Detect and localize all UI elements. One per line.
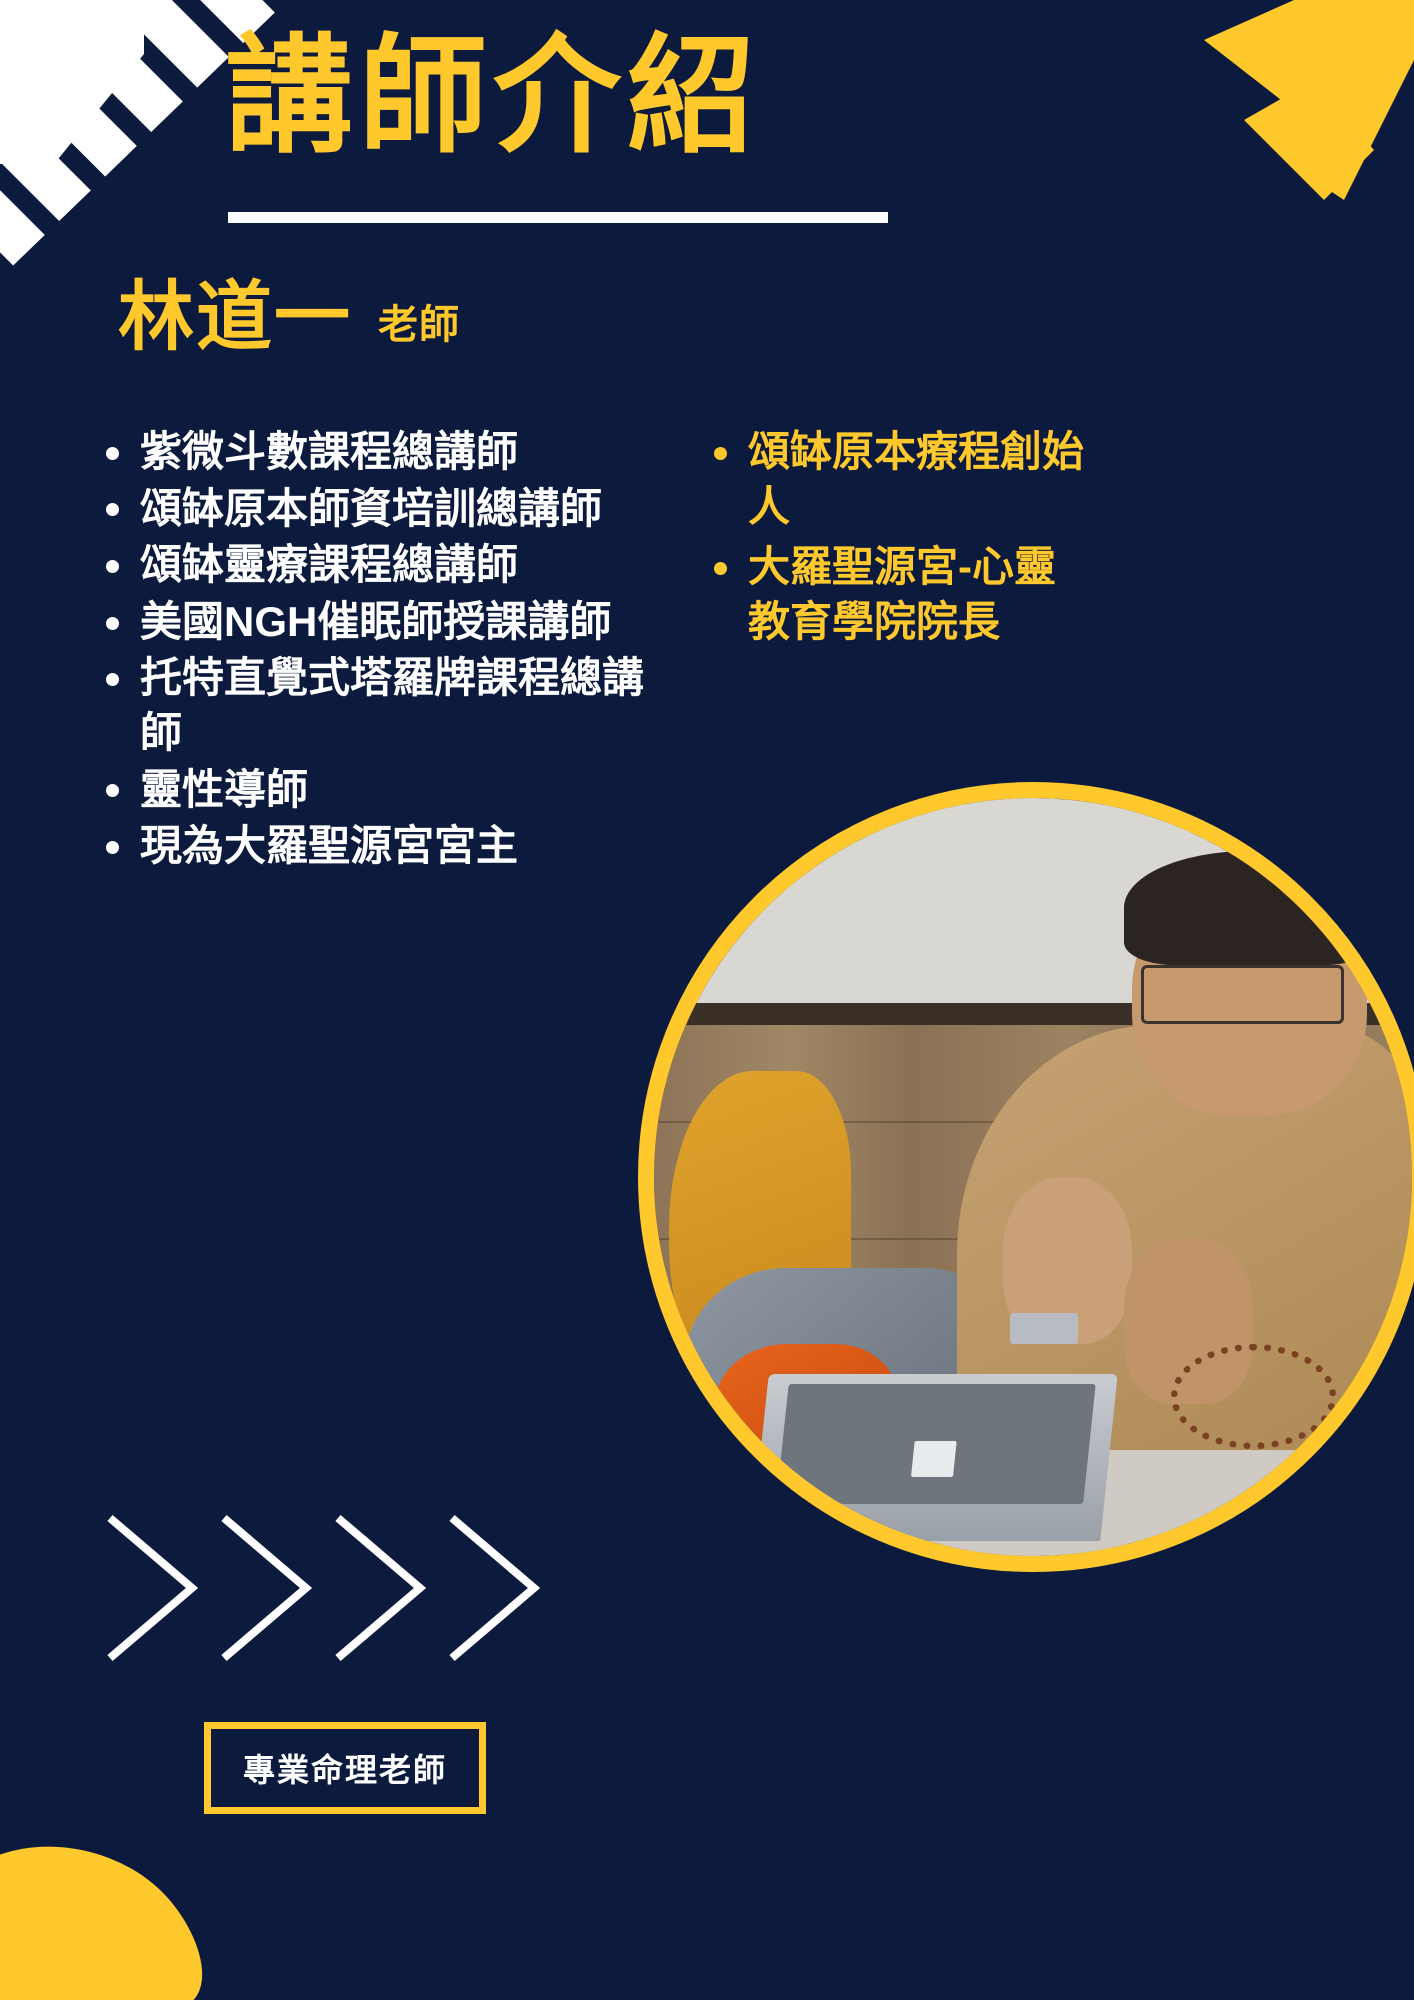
credentials-right-column: 頌缽原本療程創始人 大羅聖源宮-心靈教育學院院長: [700, 425, 1090, 655]
portrait-ring: [638, 782, 1414, 1572]
list-item: 頌缽原本師資培訓總講師: [92, 482, 652, 537]
credentials-right-list: 頌缽原本療程創始人 大羅聖源宮-心靈教育學院院長: [700, 425, 1090, 649]
credentials-left-column: 紫微斗數課程總講師 頌缽原本師資培訓總講師 頌缽靈療課程總講師 美國NGH催眠師…: [92, 425, 652, 876]
list-item: 美國NGH催眠師授課講師: [92, 595, 652, 650]
badge-label: 專業命理老師: [243, 1745, 447, 1791]
status-badge: 專業命理老師: [204, 1722, 486, 1814]
title-divider: [228, 212, 888, 223]
list-item: 紫微斗數課程總講師: [92, 425, 652, 480]
list-item: 現為大羅聖源宮宮主: [92, 819, 652, 874]
instructor-portrait: [638, 782, 1414, 1572]
instructor-name-suffix: 老師: [378, 292, 460, 350]
list-item: 頌缽原本療程創始人: [700, 425, 1090, 534]
list-item: 靈性導師: [92, 763, 652, 818]
list-item: 頌缽靈療課程總講師: [92, 538, 652, 593]
chevron-right-icon-group: [100, 1500, 560, 1675]
instructor-name-row: 林道一 老師: [118, 280, 460, 356]
chevron-arrow-icon: [1174, 0, 1414, 220]
list-item: 托特直覺式塔羅牌課程總講師: [92, 651, 652, 760]
credentials-left-list: 紫微斗數課程總講師 頌缽原本師資培訓總講師 頌缽靈療課程總講師 美國NGH催眠師…: [92, 425, 652, 874]
instructor-name: 林道一: [118, 280, 352, 356]
yellow-blob-decoration: [0, 1810, 270, 2000]
list-item: 大羅聖源宮-心靈教育學院院長: [700, 540, 1090, 649]
page-title: 講師介紹: [225, 30, 1125, 164]
poster-root: 講師介紹 林道一 老師 紫微斗數課程總講師 頌缽原本師資培訓總講師 頌缽靈療課程…: [0, 0, 1414, 2000]
